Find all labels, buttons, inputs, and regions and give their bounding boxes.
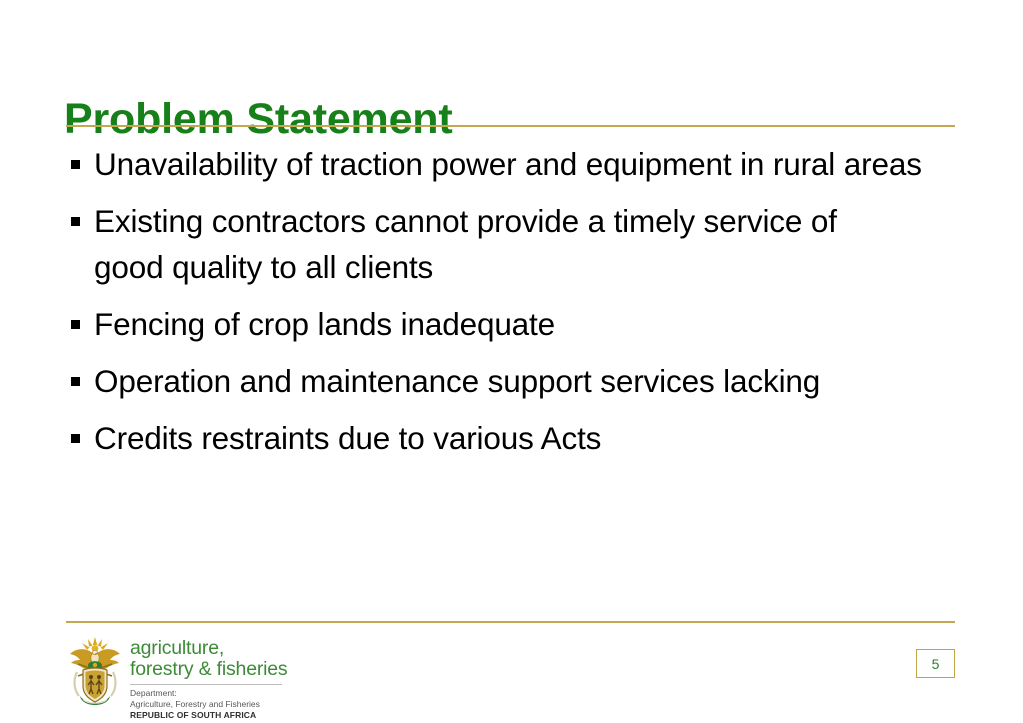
list-item-text: Operation and maintenance support servic…	[94, 358, 894, 404]
square-bullet-icon	[71, 377, 80, 386]
slide: Problem Statement Unavailability of trac…	[0, 0, 1023, 723]
list-item-text: Credits restraints due to various Acts	[94, 415, 956, 461]
department-text: Department: Agriculture, Forestry and Fi…	[130, 688, 287, 721]
logo-wordmark-line2: forestry & fisheries	[130, 659, 287, 680]
bullet-list: Unavailability of traction power and equ…	[66, 141, 956, 461]
list-item-text: Fencing of crop lands inadequate	[94, 301, 956, 347]
list-item: Unavailability of traction power and equ…	[66, 141, 956, 187]
list-item-text: Existing contractors cannot provide a ti…	[94, 198, 894, 290]
south-africa-coat-of-arms-icon	[64, 634, 126, 714]
list-item-text: Unavailability of traction power and equ…	[94, 141, 956, 187]
logo-divider	[130, 684, 282, 685]
department-name: Agriculture, Forestry and Fisheries	[130, 699, 287, 710]
list-item: Operation and maintenance support servic…	[66, 358, 956, 404]
country-name: REPUBLIC OF SOUTH AFRICA	[130, 710, 287, 721]
square-bullet-icon	[71, 434, 80, 443]
slide-number: 5	[932, 657, 940, 671]
logo-wordmark-line1: agriculture,	[130, 637, 224, 659]
slide-number-box: 5	[916, 649, 955, 678]
logo-text-block: agriculture, forestry & fisheries Depart…	[130, 634, 287, 721]
square-bullet-icon	[71, 160, 80, 169]
list-item: Existing contractors cannot provide a ti…	[66, 198, 956, 290]
department-logo: agriculture, forestry & fisheries Depart…	[64, 634, 287, 721]
list-item: Fencing of crop lands inadequate	[66, 301, 956, 347]
list-item: Credits restraints due to various Acts	[66, 415, 956, 461]
logo-wordmark: agriculture, forestry & fisheries	[130, 638, 287, 680]
title-divider	[66, 125, 955, 127]
department-label: Department:	[130, 688, 287, 699]
square-bullet-icon	[71, 217, 80, 226]
page-title: Problem Statement	[64, 93, 954, 145]
footer-divider	[66, 621, 955, 623]
square-bullet-icon	[71, 320, 80, 329]
